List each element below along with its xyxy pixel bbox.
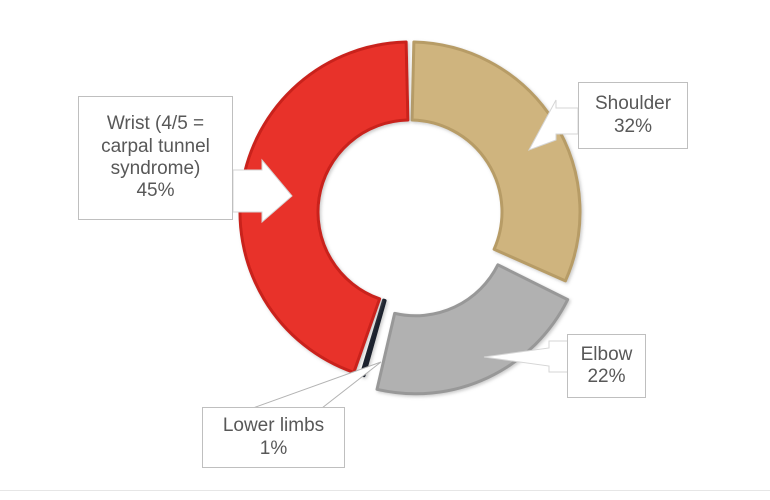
callout-wrist-line3: syndrome) bbox=[111, 158, 201, 180]
callout-wrist[interactable]: Wrist (4/5 = carpal tunnel syndrome) 45% bbox=[78, 96, 233, 220]
callout-lower-limbs[interactable]: Lower limbs 1% bbox=[202, 407, 345, 468]
donut-chart bbox=[0, 0, 770, 500]
callout-elbow-label: Elbow bbox=[581, 344, 633, 366]
donut-slice-elbow[interactable] bbox=[377, 265, 568, 394]
callout-shoulder-label: Shoulder bbox=[595, 93, 671, 115]
callout-elbow-value: 22% bbox=[587, 366, 625, 388]
callout-wrist-line1: Wrist (4/5 = bbox=[107, 113, 204, 135]
chart-canvas: Wrist (4/5 = carpal tunnel syndrome) 45%… bbox=[0, 0, 770, 500]
callout-lower-limbs-label: Lower limbs bbox=[223, 415, 324, 437]
leader-arrow-lower-limbs bbox=[253, 362, 381, 408]
donut-segments bbox=[240, 42, 580, 394]
donut-slice-shoulder[interactable] bbox=[412, 42, 580, 281]
callout-shoulder[interactable]: Shoulder 32% bbox=[578, 82, 688, 149]
callout-elbow[interactable]: Elbow 22% bbox=[567, 334, 646, 398]
callout-lower-limbs-value: 1% bbox=[260, 438, 287, 460]
callout-wrist-line2: carpal tunnel bbox=[101, 136, 210, 158]
callout-shoulder-value: 32% bbox=[614, 116, 652, 138]
bottom-divider bbox=[0, 490, 770, 491]
callout-wrist-value: 45% bbox=[136, 180, 174, 202]
